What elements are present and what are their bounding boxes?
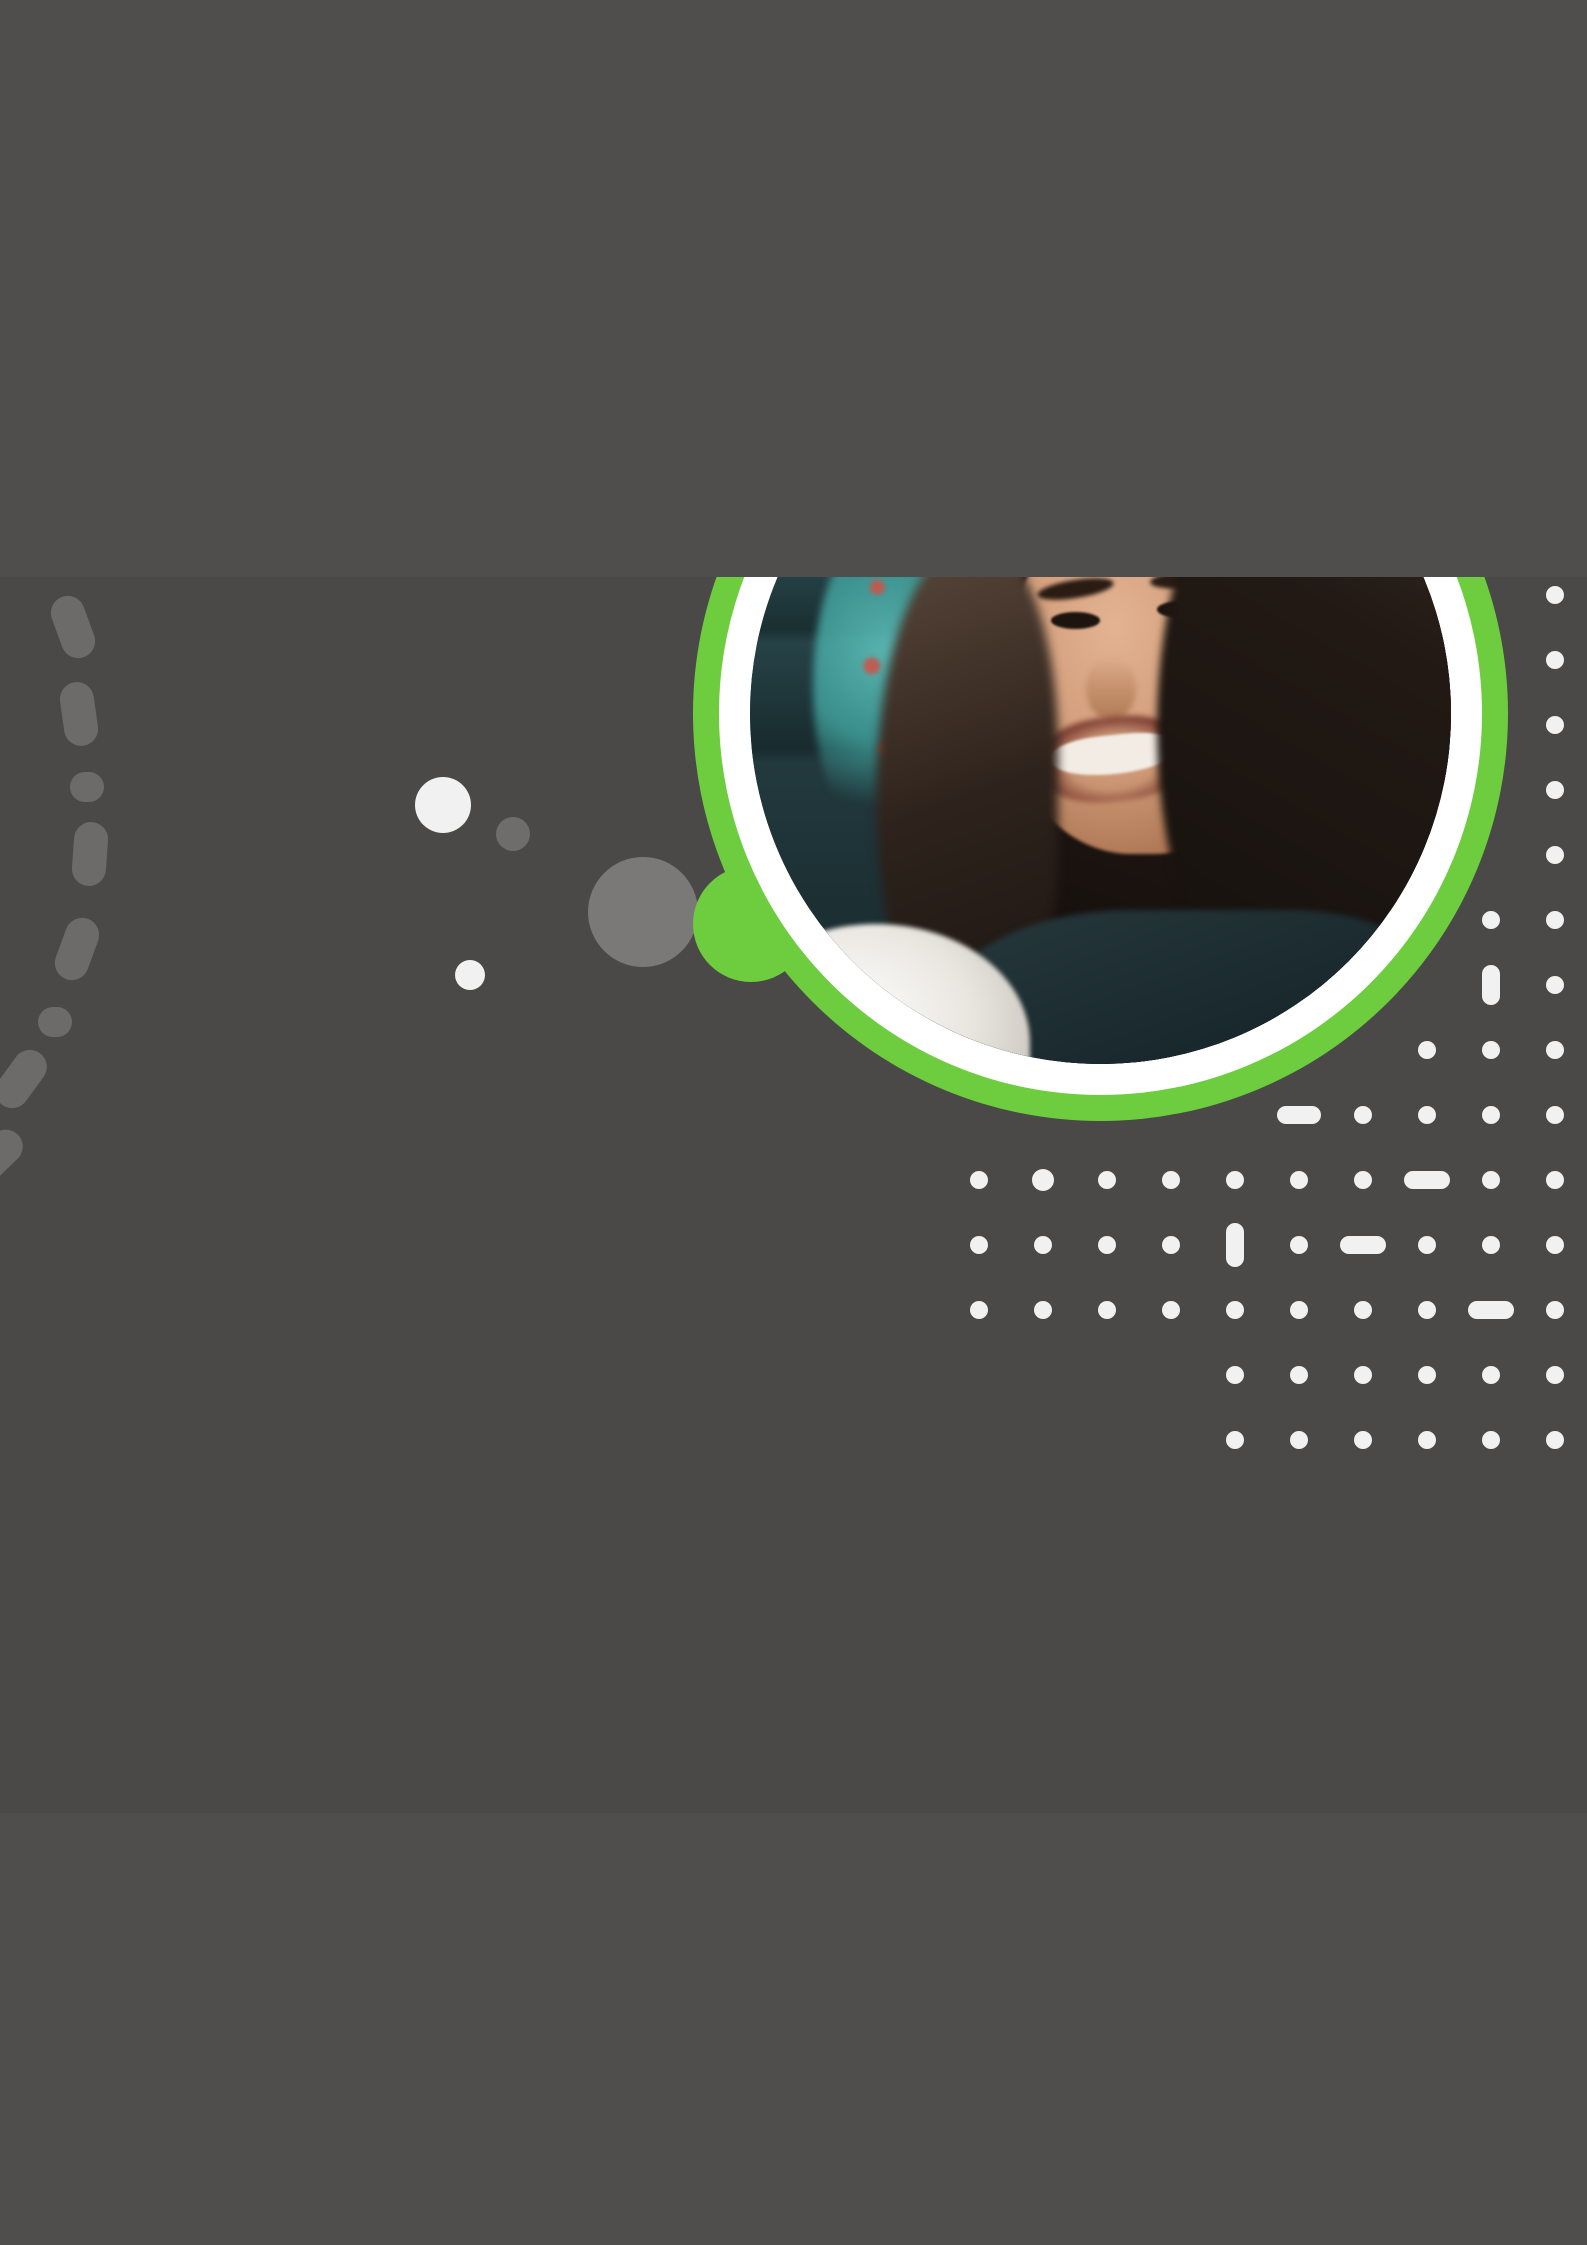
dot-mark: [1226, 1171, 1244, 1189]
dot-mark: [1546, 1171, 1564, 1189]
dot-mark: [1226, 1301, 1244, 1319]
document-viewer: Building a Future-proof Organization Pre…: [0, 0, 1587, 2245]
dot-mark: [1098, 1171, 1116, 1189]
gray-dot-small: [496, 817, 530, 851]
dot-mark: [1418, 1236, 1436, 1254]
dash-mark: [71, 821, 109, 887]
dot-mark: [1482, 1431, 1500, 1449]
dot-mark: [1290, 1431, 1308, 1449]
dot-mark: [1404, 1171, 1450, 1189]
dot-mark: [1354, 1366, 1372, 1384]
dash-mark: [70, 772, 104, 802]
dot-mark: [1418, 1301, 1436, 1319]
dot-mark: [1162, 1171, 1180, 1189]
dot-mark: [1546, 1366, 1564, 1384]
dot-mark: [1482, 1236, 1500, 1254]
dot-mark: [1290, 1366, 1308, 1384]
gray-circle-big: [588, 857, 698, 967]
dot-mark: [1226, 1366, 1244, 1384]
dot-mark: [1290, 1301, 1308, 1319]
dot-mark: [1468, 1301, 1514, 1319]
dash-mark: [0, 1043, 54, 1115]
dot-mark: [1418, 1366, 1436, 1384]
dot-mark: [1162, 1301, 1180, 1319]
dot-mark: [1546, 716, 1564, 734]
dot-mark: [1418, 1431, 1436, 1449]
dash-mark: [46, 591, 100, 663]
dot-mark: [1546, 651, 1564, 669]
dot-mark: [1032, 1169, 1054, 1191]
dot-mark: [1226, 1431, 1244, 1449]
dot-mark: [1546, 1431, 1564, 1449]
left-dash-arc-decoration: [0, 577, 320, 1277]
dot-mark: [1546, 1236, 1564, 1254]
dot-mark: [1546, 846, 1564, 864]
dot-mark: [1482, 1366, 1500, 1384]
dot-mark: [1340, 1236, 1386, 1254]
dot-mark: [970, 1171, 988, 1189]
dot-mark: [970, 1301, 988, 1319]
dot-mark: [1546, 586, 1564, 604]
white-dot-small: [455, 960, 485, 990]
whitepaper-cover-page: Building a Future-proof Organization Pre…: [0, 577, 1587, 1813]
dot-mark: [1354, 1301, 1372, 1319]
dot-mark: [1546, 1106, 1564, 1124]
dot-mark: [1546, 781, 1564, 799]
dash-mark: [58, 680, 101, 748]
dot-mark: [1354, 1431, 1372, 1449]
dash-mark: [38, 1007, 72, 1037]
dot-mark: [1482, 1171, 1500, 1189]
dot-mark: [970, 1236, 988, 1254]
dot-mark: [1098, 1301, 1116, 1319]
dot-mark: [1290, 1236, 1308, 1254]
dot-mark: [1226, 1223, 1244, 1267]
dash-mark: [0, 1123, 30, 1192]
dot-mark: [1354, 1171, 1372, 1189]
dot-mark: [1034, 1301, 1052, 1319]
dot-mark: [1098, 1236, 1116, 1254]
dash-mark: [50, 913, 104, 985]
dot-mark: [1162, 1236, 1180, 1254]
dot-mark: [1546, 976, 1564, 994]
dot-mark: [1546, 1301, 1564, 1319]
dot-mark: [1546, 1041, 1564, 1059]
dot-mark: [1290, 1171, 1308, 1189]
dot-mark: [1546, 911, 1564, 929]
dot-mark: [1034, 1236, 1052, 1254]
white-dot-large: [415, 777, 471, 833]
portrait-photo: [750, 577, 1451, 1064]
portrait-circle: [693, 577, 1508, 1121]
